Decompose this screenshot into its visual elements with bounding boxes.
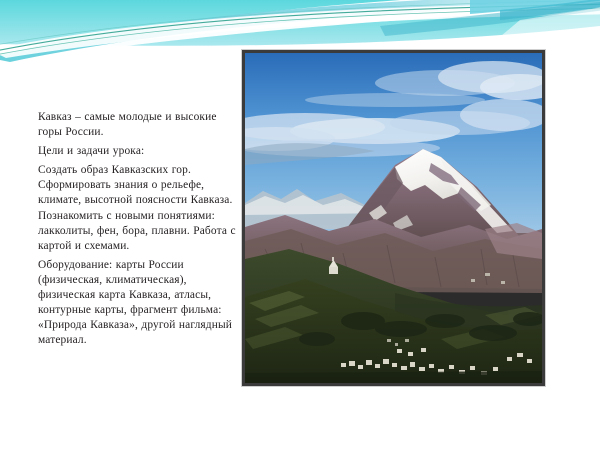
slide-text-column: Кавказ – самые молодые и высокие горы Ро… [38,110,238,348]
paragraph-equipment: Оборудование: карты России (физическая, … [38,258,238,349]
paragraph-intro: Кавказ – самые молодые и высокие горы Ро… [38,110,238,140]
paragraph-objectives-heading: Цели и задачи урока: [38,144,238,159]
band-base-fill [0,0,600,46]
band-teal-line-2 [0,8,600,56]
mount-kazbek-photograph [242,50,545,386]
band-streak-3 [380,0,600,36]
band-streak-1 [470,0,600,14]
band-teal-line-3 [0,0,600,46]
band-teal-line-1 [0,4,600,52]
band-streak-2 [500,0,600,20]
paragraph-objectives-body: Создать образ Кавказских гор. Сформирова… [38,163,238,254]
presentation-slide: Кавказ – самые молодые и высокие горы Ро… [0,0,600,450]
photo-bottom-fade [245,371,542,383]
